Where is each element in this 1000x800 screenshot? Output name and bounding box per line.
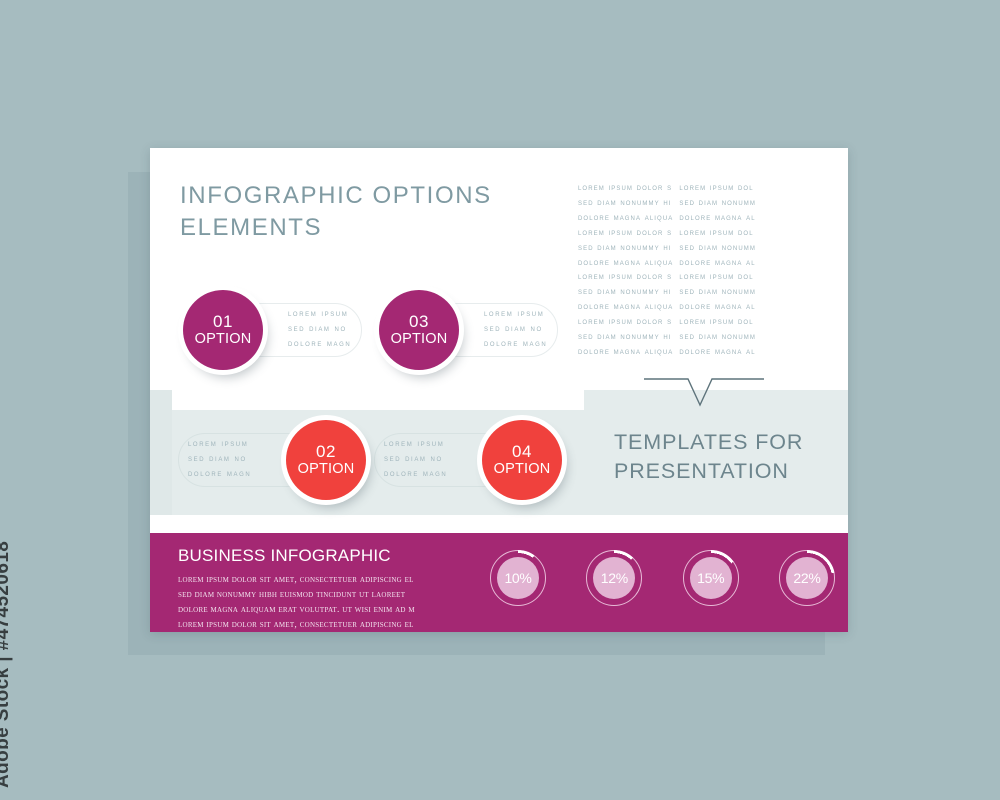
donut-chart-3[interactable]: 15% bbox=[683, 550, 739, 606]
option-text-02: Lorem ipsum sed diam no dolore magn bbox=[188, 436, 251, 481]
donut-label-3: 15% bbox=[697, 570, 724, 586]
donut-label-1: 10% bbox=[504, 570, 531, 586]
option-word-01: OPTION bbox=[195, 331, 252, 348]
donut-row: 10% 12% 15% 22% bbox=[490, 550, 835, 606]
page-title: INFOGRAPHIC OPTIONS ELEMENTS bbox=[180, 180, 580, 243]
option-circle-01[interactable]: 01 OPTION bbox=[183, 290, 263, 370]
donut-label-2: 12% bbox=[601, 570, 628, 586]
option-text-01: Lorem ipsum sed diam no dolore magn bbox=[288, 306, 351, 351]
right-lorem-block: Lorem ipsum dolor s sed diam nonummy hi … bbox=[578, 180, 836, 359]
donut-chart-1[interactable]: 10% bbox=[490, 550, 546, 606]
option-word-02: OPTION bbox=[298, 461, 355, 478]
option-text-03: Lorem ipsum sed diam no dolore magn bbox=[484, 306, 547, 351]
option-circle-03[interactable]: 03 OPTION bbox=[379, 290, 459, 370]
option-word-04: OPTION bbox=[494, 461, 551, 478]
donut-chart-2[interactable]: 12% bbox=[586, 550, 642, 606]
option-number-03: 03 bbox=[409, 313, 429, 331]
banner-title: BUSINESS INFOGRAPHIC bbox=[178, 546, 391, 566]
donut-label-4: 22% bbox=[793, 570, 820, 586]
option-number-01: 01 bbox=[213, 313, 233, 331]
lorem-column-2: Lorem ipsum dol sed diam nonumm dolore m… bbox=[679, 180, 756, 359]
adobe-stock-watermark: Adobe Stock | #474520618 bbox=[0, 541, 14, 788]
left-rail bbox=[150, 390, 172, 515]
banner-body-text: Lorem ipsum dolor sit amet, consectetuer… bbox=[178, 572, 478, 632]
option-circle-04[interactable]: 04 OPTION bbox=[482, 420, 562, 500]
option-number-02: 02 bbox=[316, 443, 336, 461]
templates-heading: TEMPLATES FOR PRESENTATION bbox=[614, 428, 844, 486]
business-banner: BUSINESS INFOGRAPHIC Lorem ipsum dolor s… bbox=[150, 533, 848, 632]
lorem-column-1: Lorem ipsum dolor s sed diam nonummy hi … bbox=[578, 180, 673, 359]
option-circle-02[interactable]: 02 OPTION bbox=[286, 420, 366, 500]
infographic-card: INFOGRAPHIC OPTIONS ELEMENTS Lorem ipsum… bbox=[150, 148, 848, 632]
chevron-down-icon bbox=[644, 376, 764, 408]
bottom-white-band bbox=[150, 515, 848, 533]
option-word-03: OPTION bbox=[391, 331, 448, 348]
donut-chart-4[interactable]: 22% bbox=[779, 550, 835, 606]
option-number-04: 04 bbox=[512, 443, 532, 461]
option-text-04: Lorem ipsum sed diam no dolore magn bbox=[384, 436, 447, 481]
